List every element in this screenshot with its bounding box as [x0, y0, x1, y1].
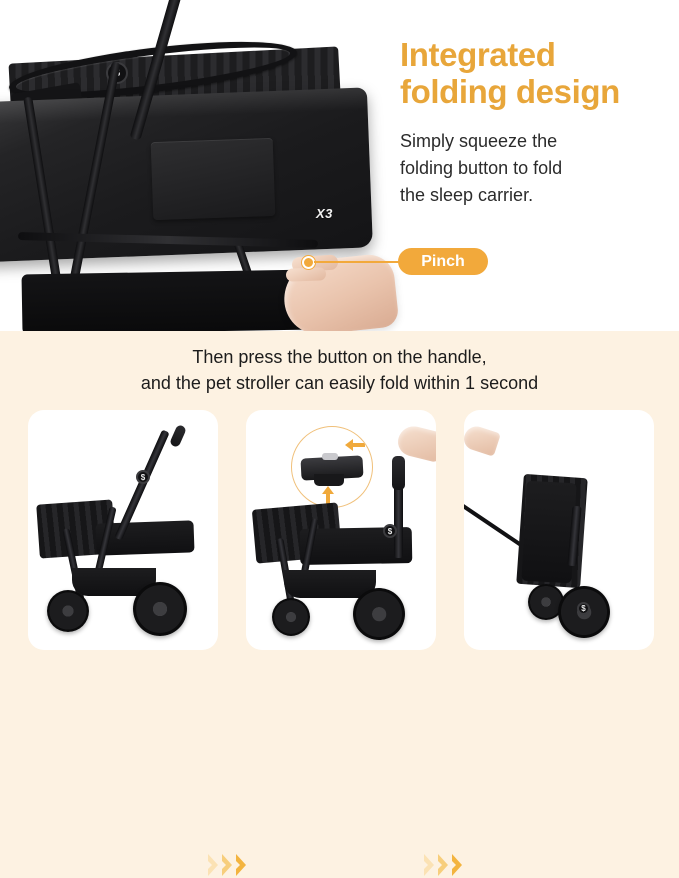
step-panel-2[interactable]: $: [246, 410, 436, 650]
step-panel-3[interactable]: $: [464, 410, 654, 650]
hero-subtitle-line-2: folding button to fold: [400, 155, 666, 182]
chevron-right-icon: [437, 852, 450, 878]
hero-title-line-2: folding design: [400, 73, 666, 110]
step-arrow-2-to-3: [423, 852, 464, 878]
hero-copy-block: Integrated folding design Simply squeeze…: [400, 36, 666, 210]
chevron-right-icon: [423, 852, 436, 878]
panel-brand-badge-icon: $: [577, 602, 590, 615]
hero-subtitle-line-3: the sleep carrier.: [400, 182, 666, 209]
hero-section: $ X3 Pinch Integrated folding design Sim…: [0, 0, 679, 331]
release-button-icon: [322, 453, 338, 460]
handle-grip: [392, 456, 405, 490]
front-wheel: [47, 590, 89, 632]
steps-section: Then press the button on the handle, and…: [0, 331, 679, 679]
model-logo: X3: [316, 206, 333, 221]
panel-brand-badge-icon: $: [383, 524, 397, 538]
handle-button-detail-inset: [291, 426, 373, 508]
steps-caption: Then press the button on the handle, and…: [0, 331, 679, 396]
hero-subtitle-line-1: Simply squeeze the: [400, 128, 666, 155]
steps-caption-line-1: Then press the button on the handle,: [0, 345, 679, 371]
step-arrow-1-to-2: [207, 852, 248, 878]
thumb-finger: [286, 267, 326, 281]
product-infographic: $ X3 Pinch Integrated folding design Sim…: [0, 0, 679, 679]
chevron-right-icon: [235, 852, 248, 878]
chevron-right-icon: [221, 852, 234, 878]
pinch-callout-badge: Pinch: [398, 248, 488, 275]
hand-holding-strap: [464, 423, 501, 456]
carrier-front-pocket: [151, 138, 276, 220]
step-panel-1[interactable]: $: [28, 410, 218, 650]
front-wheel: [272, 598, 310, 636]
rear-wheel: [353, 588, 405, 640]
handle-grip: [169, 424, 187, 448]
arrow-left-icon: [344, 437, 366, 453]
steps-panel-row: $: [28, 410, 654, 650]
push-handle-bar: [394, 480, 403, 558]
hero-title: Integrated folding design: [400, 36, 666, 111]
chevron-right-icon: [207, 852, 220, 878]
callout-leader-line: [314, 261, 400, 263]
steps-caption-line-2: and the pet stroller can easily fold wit…: [0, 371, 679, 397]
chevron-right-icon: [451, 852, 464, 878]
hero-subtitle: Simply squeeze the folding button to fol…: [400, 128, 666, 210]
hero-title-line-1: Integrated: [400, 36, 666, 73]
under-basket: [21, 269, 312, 331]
folded-frame: [521, 481, 576, 583]
panel-brand-badge-icon: $: [136, 470, 150, 484]
rear-wheel: [133, 582, 187, 636]
